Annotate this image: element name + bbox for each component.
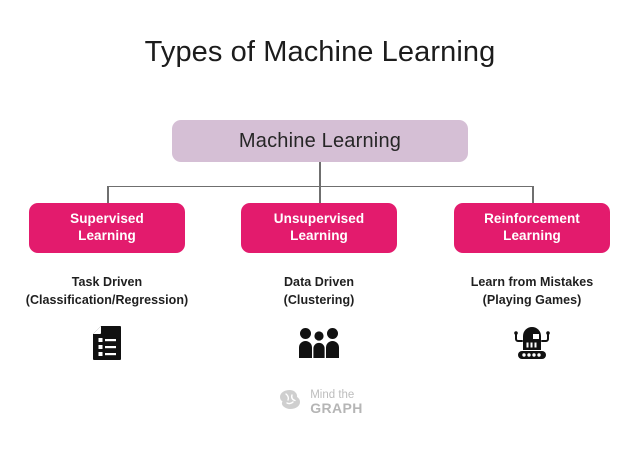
caption-line1: Task Driven [1,273,213,291]
category-box-label-line1: Unsupervised [274,211,364,228]
category-box-supervised: Supervised Learning [29,203,185,253]
caption-line1: Data Driven [213,273,425,291]
connector-drop-reinforcement [532,186,534,204]
category-box-reinforcement: Reinforcement Learning [454,203,610,253]
category-caption-reinforcement: Learn from Mistakes (Playing Games) [426,273,638,309]
category-box-label-line2: Learning [78,228,136,245]
connector-drop-supervised [107,186,109,204]
document-checklist-icon [1,323,213,363]
category-box-unsupervised: Unsupervised Learning [241,203,397,253]
caption-line2: (Playing Games) [426,291,638,309]
people-group-icon [213,323,425,363]
robot-icon [426,323,638,363]
brain-icon [277,388,303,417]
category-column-reinforcement: Reinforcement Learning Learn from Mistak… [426,203,638,363]
mind-the-graph-logo: Mind the GRAPH [0,388,640,417]
logo-text: Mind the GRAPH [310,390,363,416]
connector-trunk [319,162,321,186]
caption-line2: (Clustering) [213,291,425,309]
connector-drop-unsupervised [319,186,321,204]
category-box-label-line1: Supervised [70,211,144,228]
category-caption-unsupervised: Data Driven (Clustering) [213,273,425,309]
category-column-supervised: Supervised Learning Task Driven (Classif… [1,203,213,363]
category-column-unsupervised: Unsupervised Learning Data Driven (Clust… [213,203,425,363]
logo-line2: GRAPH [310,401,363,415]
category-box-label-line2: Learning [503,228,561,245]
root-node-machine-learning: Machine Learning [172,120,468,162]
category-box-label-line1: Reinforcement [484,211,580,228]
diagram-canvas: Types of Machine Learning Machine Learni… [0,0,640,457]
caption-line2: (Classification/Regression) [1,291,213,309]
category-caption-supervised: Task Driven (Classification/Regression) [1,273,213,309]
caption-line1: Learn from Mistakes [426,273,638,291]
root-node-label: Machine Learning [239,130,401,153]
category-box-label-line2: Learning [290,228,348,245]
page-title: Types of Machine Learning [0,36,640,69]
